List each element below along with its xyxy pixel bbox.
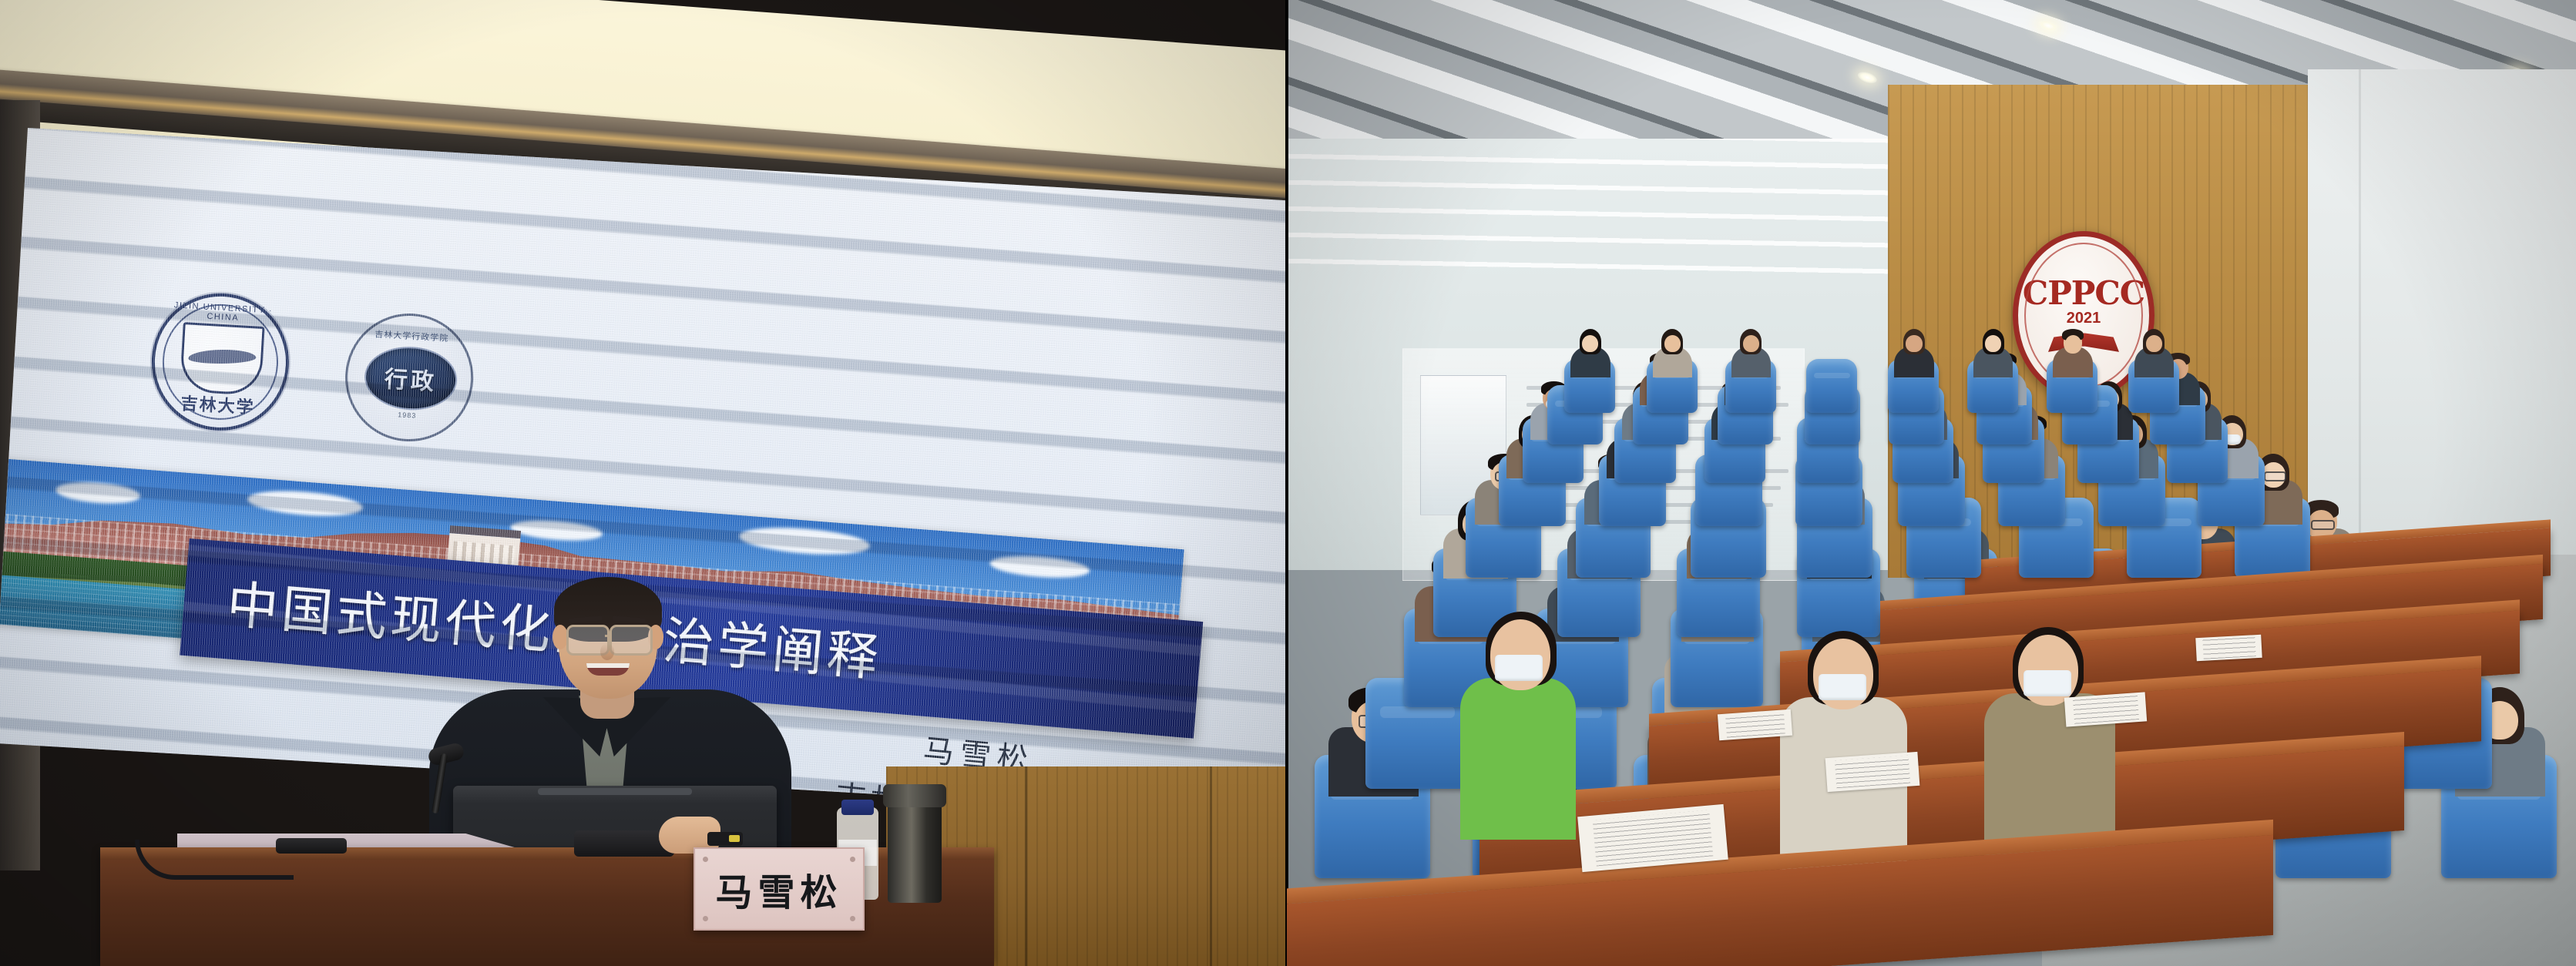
water-bottle-cap <box>841 800 874 815</box>
audience-member-face <box>1743 335 1759 352</box>
paper-text-lines <box>2072 695 2138 724</box>
audience-member <box>2055 327 2091 374</box>
paper-text-lines <box>1835 755 1910 789</box>
speaker-nameplate: 马雪松 <box>694 847 865 931</box>
microphone-cable <box>135 840 294 880</box>
hall-back-wall-reveals <box>1287 139 1919 277</box>
paper-text-lines <box>1593 810 1714 867</box>
nameplate-screw <box>703 916 708 921</box>
audience-member-face <box>2065 335 2081 352</box>
audience-member <box>1896 327 1932 374</box>
paper-text-lines <box>2202 637 2255 659</box>
presenter-clicker <box>707 832 743 846</box>
audience-member-face-mask <box>1819 674 1866 700</box>
audience-member-face <box>1985 335 2001 352</box>
speaker-glasses-lens-right <box>610 625 653 656</box>
audience-member-face <box>1582 335 1598 352</box>
auditorium-seat <box>1806 359 1857 413</box>
audience-member-face <box>2146 335 2162 352</box>
speaker-glasses-bridge <box>605 635 611 637</box>
nameplate-screw <box>703 857 708 862</box>
speaker-mouth <box>586 663 630 676</box>
photo-composite: JILIN UNIVERSITY · CHINA 吉林大学 吉林大学行政学院 行… <box>0 0 2576 966</box>
audience-member-face-mask <box>2024 670 2071 696</box>
audience-member-glasses <box>2264 471 2286 481</box>
desk-paper-handout <box>2195 635 2262 661</box>
audience-member <box>1654 327 1690 374</box>
speaker-ear-left <box>552 625 568 649</box>
desk-paper-handout <box>1718 709 1792 741</box>
speaker-nose <box>600 643 614 660</box>
audience-member <box>1733 327 1768 374</box>
right-photo-audience-panel: CPPCC 2021 <box>1287 0 2576 966</box>
thermos-flask <box>888 793 942 903</box>
ceiling-downlight-icon <box>1856 69 1879 86</box>
panel-seam-divider <box>1285 0 1288 966</box>
audience-member <box>2136 327 2171 374</box>
audience-member-face-mask <box>1495 655 1543 681</box>
laptop-hinge <box>538 788 692 795</box>
audience-member-face <box>1906 335 1922 352</box>
ceiling-downlight-icon <box>2037 18 2060 34</box>
nameplate-screw <box>850 916 855 921</box>
left-photo-speaker-panel: JILIN UNIVERSITY · CHINA 吉林大学 吉林大学行政学院 行… <box>0 0 1287 966</box>
nameplate-screw <box>850 857 855 862</box>
desk-paper-handout <box>2064 692 2147 726</box>
audience-member <box>1573 327 1608 374</box>
thermos-cap <box>883 784 946 807</box>
desk-paper-handout <box>1825 752 1920 792</box>
nameplate-text: 马雪松 <box>715 862 842 916</box>
audience-member-face <box>1664 335 1681 352</box>
paper-text-lines <box>1725 712 1785 738</box>
audience-member-glasses <box>2311 520 2335 530</box>
audience-member <box>1975 327 2010 374</box>
audience-member-green-coat <box>1460 678 1576 840</box>
